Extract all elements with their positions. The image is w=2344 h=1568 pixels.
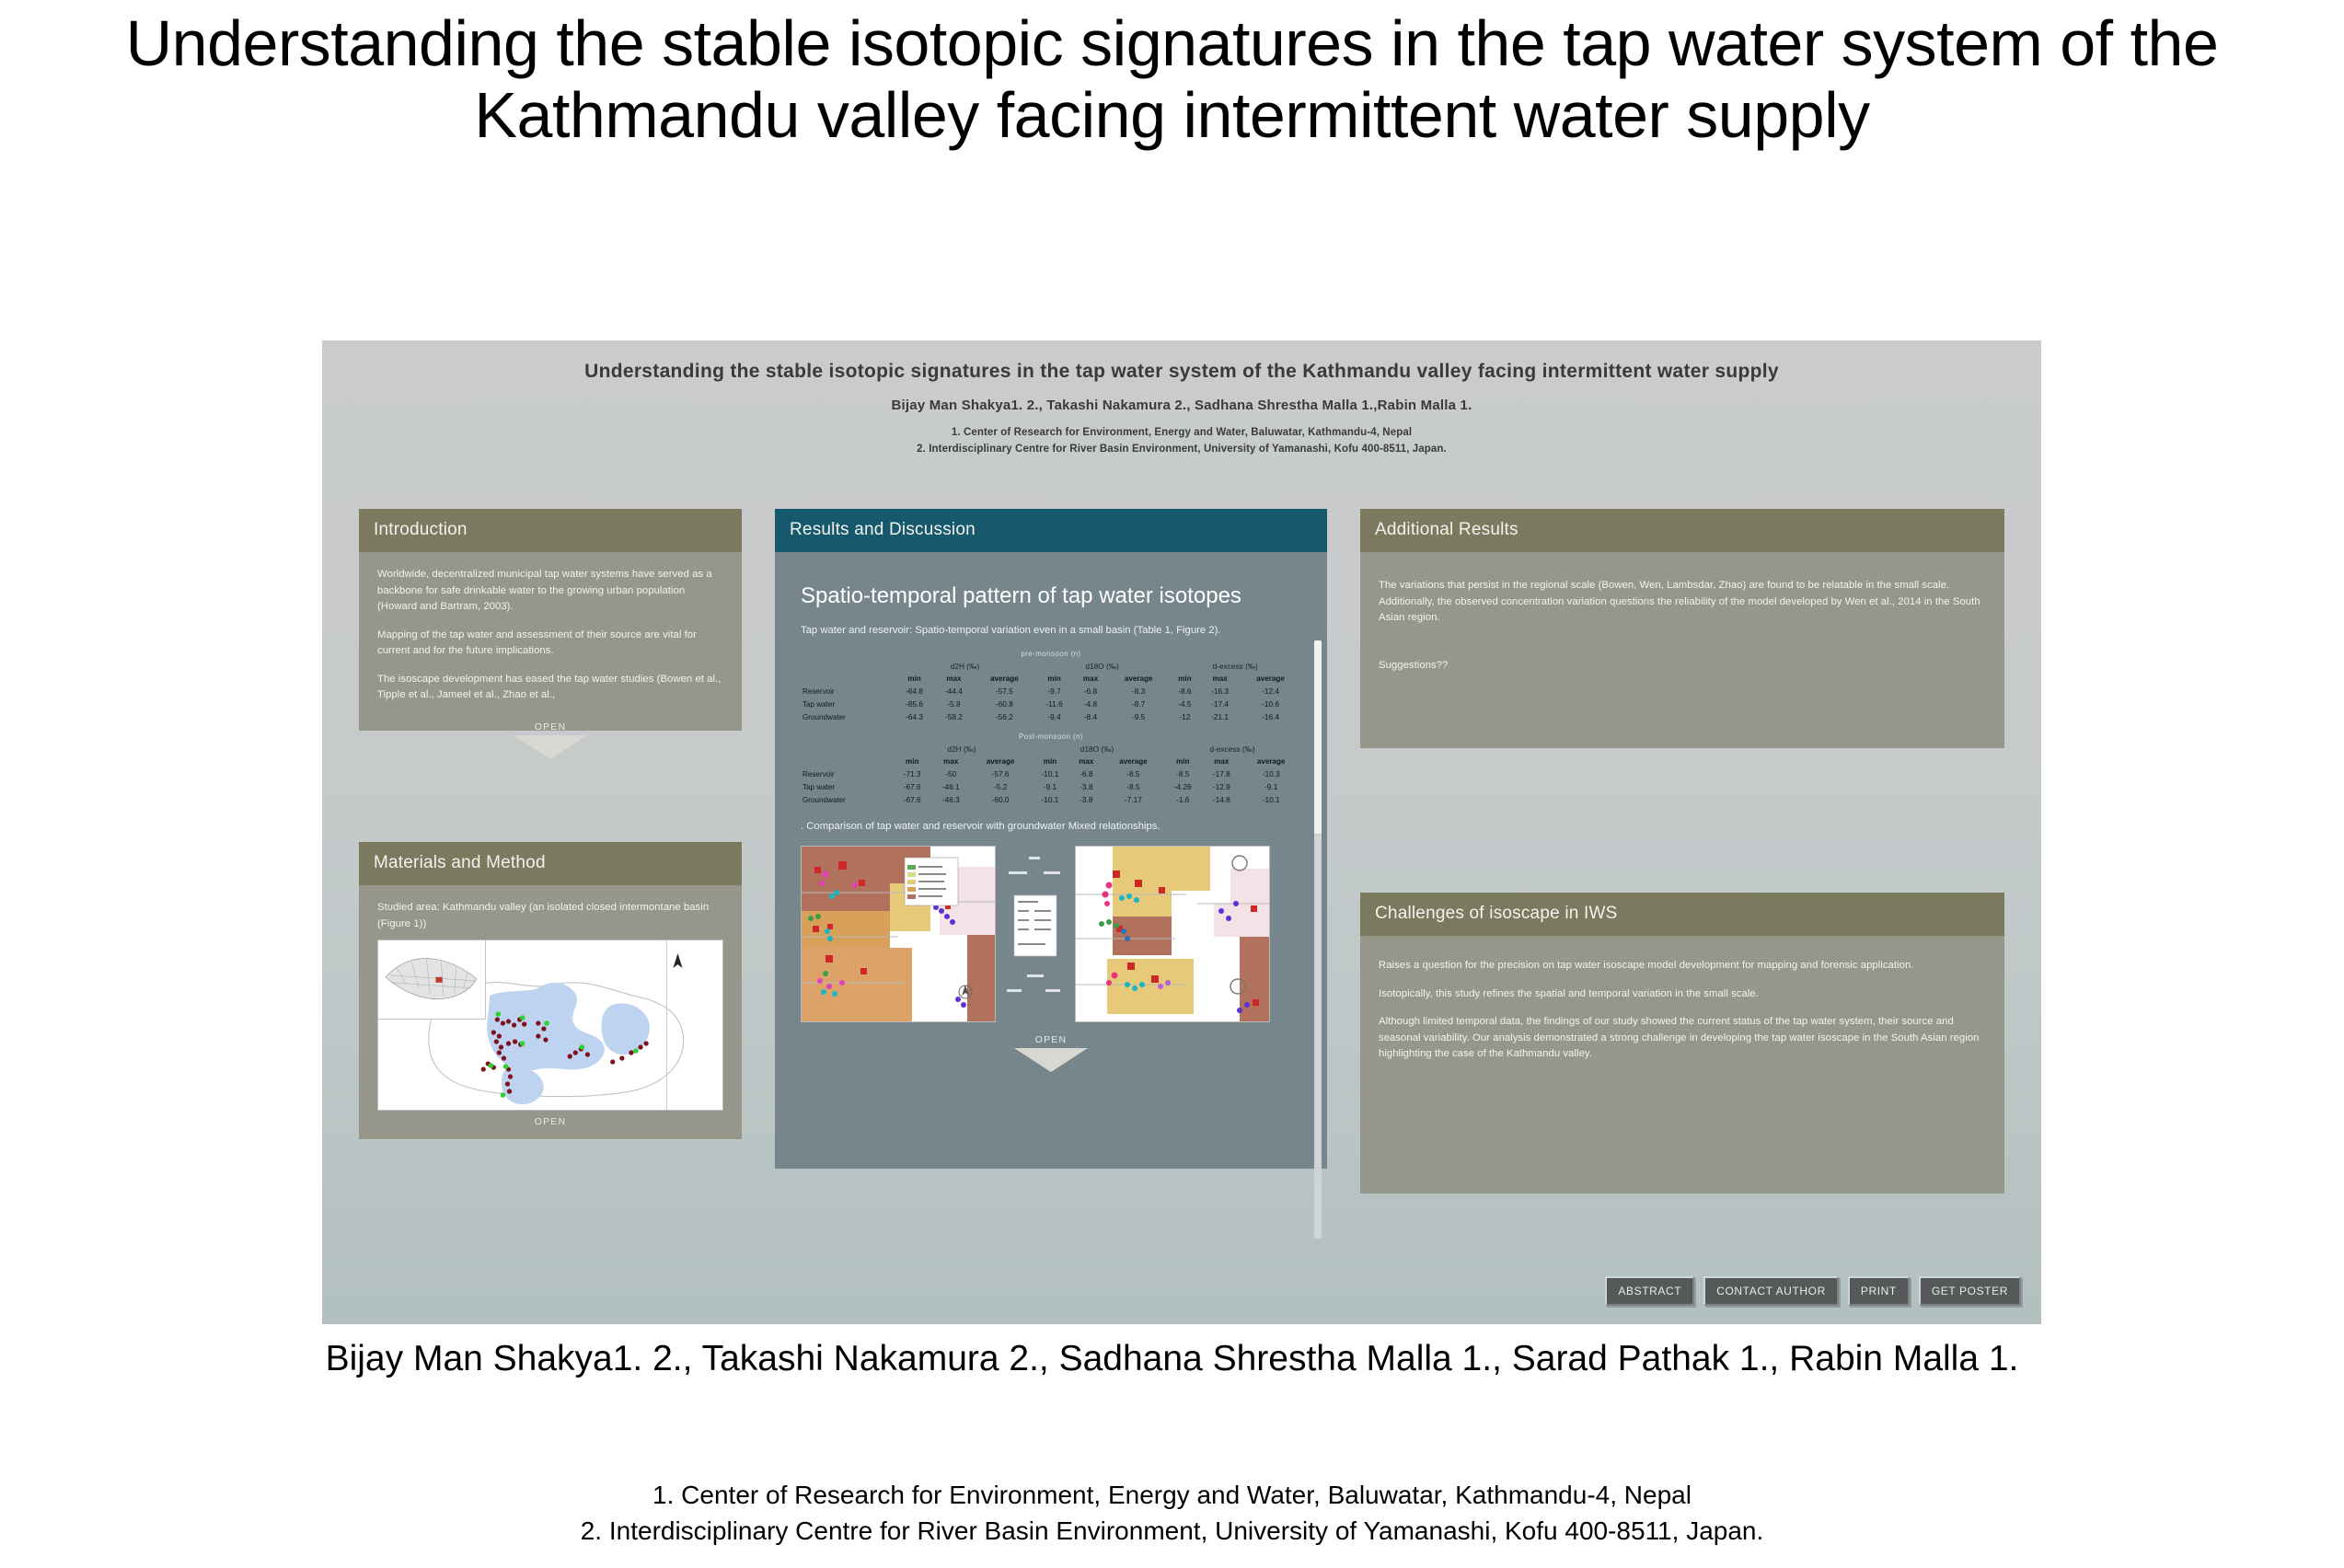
table-cell-7: -12.9 bbox=[1202, 780, 1241, 793]
results-scrollbar[interactable] bbox=[1314, 640, 1322, 1239]
print-button[interactable]: PRINT bbox=[1848, 1276, 1910, 1306]
table-cell-1: -46.1 bbox=[931, 780, 970, 793]
table-cell-5: -8.5 bbox=[1103, 767, 1164, 780]
isoscape-map-left[interactable] bbox=[801, 846, 996, 1022]
table-cell-3: -9.1 bbox=[1031, 780, 1069, 793]
table-cell-1: -46.3 bbox=[931, 793, 970, 806]
get-poster-button[interactable]: GET POSTER bbox=[1919, 1276, 2021, 1306]
row-label: Tap water bbox=[801, 780, 893, 793]
column-header-3: min bbox=[1031, 755, 1069, 767]
table-cell-6: -8.6 bbox=[1170, 685, 1201, 698]
table-cell-6: -4.5 bbox=[1170, 698, 1201, 710]
table-row: Groundwater-67.6-46.3-60.0-10.1-3.8-7.17… bbox=[801, 793, 1301, 806]
table-cell-7: -14.8 bbox=[1202, 793, 1241, 806]
open-label: OPEN bbox=[377, 1116, 723, 1127]
table-premonsoon: d2H (‰) d18O (‰) d-excess (‰) minmaxaver… bbox=[801, 660, 1301, 723]
table-cell-7: -16.3 bbox=[1200, 685, 1240, 698]
group-d18o: d18O (‰) bbox=[1031, 743, 1163, 755]
table-cell-2: -56.2 bbox=[974, 710, 1035, 723]
poster-authors: Bijay Man Shakya1. 2., Takashi Nakamura … bbox=[322, 398, 2041, 413]
poster-header: Understanding the stable isotopic signat… bbox=[322, 359, 2041, 457]
panel-challenges[interactable]: Challenges of isoscape in IWS Raises a q… bbox=[1360, 893, 2004, 1193]
poster-affiliation-1: 1. Center of Research for Environment, E… bbox=[322, 425, 2041, 441]
additional-paragraph-2: Suggestions?? bbox=[1379, 658, 1986, 674]
additional-body: The variations that persist in the regio… bbox=[1360, 552, 2004, 748]
table-group-row-2: d2H (‰) d18O (‰) d-excess (‰) bbox=[801, 743, 1301, 755]
column-header-5: average bbox=[1103, 755, 1164, 767]
nepal-inset-map bbox=[378, 940, 486, 1020]
results-open-button[interactable]: OPEN bbox=[801, 1023, 1301, 1085]
introduction-body: Worldwide, decentralized municipal tap w… bbox=[359, 552, 742, 731]
column-header-0: min bbox=[893, 755, 931, 767]
figure-study-area-map[interactable] bbox=[377, 940, 723, 1111]
table-cell-2: -60.8 bbox=[974, 698, 1035, 710]
introduction-header: Introduction bbox=[359, 509, 742, 552]
table-cell-0: -64.8 bbox=[895, 685, 934, 698]
isoscape-map-right[interactable] bbox=[1075, 846, 1270, 1022]
table-2-caption: Post-monsoon (n) bbox=[801, 732, 1301, 741]
table-cell-5: -8.7 bbox=[1108, 698, 1170, 710]
poster-action-buttons: ABSTRACT CONTACT AUTHOR PRINT GET POSTER bbox=[1605, 1276, 2021, 1306]
isoscape-middle-legend bbox=[1005, 846, 1066, 1023]
table-cell-3: -10.1 bbox=[1031, 767, 1069, 780]
group-d18o: d18O (‰) bbox=[1035, 660, 1170, 673]
table-row: Groundwater-64.3-58.2-56.2-9.4-8.4-9.5-1… bbox=[801, 710, 1301, 723]
open-label: OPEN bbox=[801, 1034, 1301, 1045]
table-cell-5: -8.5 bbox=[1103, 780, 1164, 793]
introduction-paragraph-3: The isoscape development has eased the t… bbox=[377, 672, 723, 704]
poster-thumbnail[interactable]: Understanding the stable isotopic signat… bbox=[322, 340, 2041, 1324]
poster-affiliation-2: 2. Interdisciplinary Centre for River Ba… bbox=[322, 442, 2041, 457]
column-header-4: max bbox=[1073, 673, 1107, 685]
challenges-body: Raises a question for the precision on t… bbox=[1360, 936, 2004, 1193]
table-cell-3: -10.1 bbox=[1031, 793, 1069, 806]
panel-additional-results[interactable]: Additional Results The variations that p… bbox=[1360, 509, 2004, 748]
table-head-2: d2H (‰) d18O (‰) d-excess (‰) bbox=[801, 743, 1301, 755]
affiliation-line-1: 1. Center of Research for Environment, E… bbox=[0, 1477, 2344, 1513]
materials-paragraph-1: Studied area: Kathmandu valley (an isola… bbox=[377, 900, 723, 932]
row-label: Reservoir bbox=[801, 685, 895, 698]
panel-results-discussion[interactable]: Results and Discussion Spatio-temporal p… bbox=[775, 509, 1327, 1169]
column-header-0: min bbox=[895, 673, 934, 685]
table-cell-4: -8.4 bbox=[1073, 710, 1107, 723]
table-cell-4: -6.8 bbox=[1069, 767, 1103, 780]
table-cell-7: -21.1 bbox=[1200, 710, 1240, 723]
table-column-row: minmaxaverageminmaxaverageminmaxaverage bbox=[801, 755, 1301, 767]
nepal-inset-svg bbox=[378, 940, 485, 1019]
table-cell-6: -1.6 bbox=[1163, 793, 1202, 806]
column-header-2: average bbox=[970, 755, 1031, 767]
affiliations-caption: 1. Center of Research for Environment, E… bbox=[0, 1477, 2344, 1549]
column-header-2: average bbox=[974, 673, 1035, 685]
materials-open-button[interactable]: OPEN bbox=[377, 1111, 723, 1139]
table-cell-0: -67.6 bbox=[893, 780, 931, 793]
table-cell-8: -10.3 bbox=[1241, 767, 1301, 780]
column-header-7: max bbox=[1200, 673, 1240, 685]
column-header-5: average bbox=[1108, 673, 1170, 685]
table-cell-6: -8.5 bbox=[1163, 767, 1202, 780]
isoscape-left-svg bbox=[802, 847, 995, 1021]
table-column-row: minmaxaverageminmaxaverageminmaxaverage bbox=[801, 673, 1301, 685]
table-head: d2H (‰) d18O (‰) d-excess (‰) bbox=[801, 660, 1301, 673]
table-cell-0: -85.6 bbox=[895, 698, 934, 710]
additional-header: Additional Results bbox=[1360, 509, 2004, 552]
additional-paragraph-1: The variations that persist in the regio… bbox=[1379, 578, 1986, 627]
isoscape-figure-pair[interactable] bbox=[801, 846, 1301, 1023]
poster-page: Understanding the stable isotopic signat… bbox=[0, 0, 2344, 1568]
table-cell-8: -10.1 bbox=[1241, 793, 1301, 806]
table-cell-1: -58.2 bbox=[934, 710, 974, 723]
table-cell-4: -3.8 bbox=[1069, 793, 1103, 806]
affiliation-line-2: 2. Interdisciplinary Centre for River Ba… bbox=[0, 1513, 2344, 1549]
isoscape-right-svg bbox=[1076, 847, 1269, 1021]
legend-svg bbox=[1005, 853, 1066, 1019]
panel-materials-method[interactable]: Materials and Method Studied area: Kathm… bbox=[359, 842, 742, 1139]
table-cell-1: -50 bbox=[931, 767, 970, 780]
table-body-1: minmaxaverageminmaxaverageminmaxaverageR… bbox=[801, 673, 1301, 723]
column-header-1: max bbox=[934, 673, 974, 685]
column-header-4: max bbox=[1069, 755, 1103, 767]
abstract-button[interactable]: ABSTRACT bbox=[1605, 1276, 1694, 1306]
chevron-down-icon bbox=[514, 735, 587, 759]
row-label: Groundwater bbox=[801, 793, 893, 806]
table-cell-0: -67.6 bbox=[893, 793, 931, 806]
results-scrollbar-thumb[interactable] bbox=[1314, 640, 1322, 834]
column-header-6: min bbox=[1163, 755, 1202, 767]
table-1-caption: pre-monsoon (n) bbox=[801, 650, 1301, 658]
row-label: Groundwater bbox=[801, 710, 895, 723]
row-label: Reservoir bbox=[801, 767, 893, 780]
table-cell-4: -4.8 bbox=[1073, 698, 1107, 710]
poster-title: Understanding the stable isotopic signat… bbox=[322, 359, 2041, 385]
results-body: Spatio-temporal pattern of tap water iso… bbox=[775, 552, 1327, 1169]
table-cell-1: -44.4 bbox=[934, 685, 974, 698]
table-cell-6: -4.26 bbox=[1163, 780, 1202, 793]
table-cell-2: -57.6 bbox=[970, 767, 1031, 780]
column-header-7: max bbox=[1202, 755, 1241, 767]
table-cell-5: -7.17 bbox=[1103, 793, 1164, 806]
table-cell-4: -6.8 bbox=[1073, 685, 1107, 698]
table-cell-3: -9.7 bbox=[1035, 685, 1074, 698]
table-cell-6: -12 bbox=[1170, 710, 1201, 723]
chevron-down-icon bbox=[1014, 1048, 1088, 1072]
table-cell-0: -71.3 bbox=[893, 767, 931, 780]
table-group-row: d2H (‰) d18O (‰) d-excess (‰) bbox=[801, 660, 1301, 673]
table-postmonsoon: d2H (‰) d18O (‰) d-excess (‰) minmaxaver… bbox=[801, 743, 1301, 806]
table-row: Tap water-67.6-46.1-5.2-9.1-3.8-8.5-4.26… bbox=[801, 780, 1301, 793]
table-cell-7: -17.8 bbox=[1202, 767, 1241, 780]
challenges-header: Challenges of isoscape in IWS bbox=[1360, 893, 2004, 936]
table-cell-1: -5.8 bbox=[934, 698, 974, 710]
table-row: Tap water-85.6-5.8-60.8-11.6-4.8-8.7-4.5… bbox=[801, 698, 1301, 710]
introduction-paragraph-1: Worldwide, decentralized municipal tap w… bbox=[377, 567, 723, 616]
table-body-2: minmaxaverageminmaxaverageminmaxaverageR… bbox=[801, 755, 1301, 806]
table-cell-2: -57.5 bbox=[974, 685, 1035, 698]
group-dexcess: d-excess (‰) bbox=[1170, 660, 1301, 673]
poster-affiliations: 1. Center of Research for Environment, E… bbox=[322, 425, 2041, 457]
challenges-paragraph-3: Although limited temporal data, the find… bbox=[1379, 1014, 1986, 1063]
column-header-3: min bbox=[1035, 673, 1074, 685]
column-header-6: min bbox=[1170, 673, 1201, 685]
table-cell-8: -10.6 bbox=[1240, 698, 1301, 710]
panel-introduction[interactable]: Introduction Worldwide, decentralized mu… bbox=[359, 509, 742, 731]
table-cell-5: -9.5 bbox=[1108, 710, 1170, 723]
materials-body: Studied area: Kathmandu valley (an isola… bbox=[359, 885, 742, 1139]
results-note: Tap water and reservoir: Spatio-temporal… bbox=[801, 623, 1301, 639]
table-cell-0: -64.3 bbox=[895, 710, 934, 723]
table-row: Reservoir-64.8-44.4-57.5-9.7-6.8-8.3-8.6… bbox=[801, 685, 1301, 698]
contact-author-button[interactable]: CONTACT AUTHOR bbox=[1703, 1276, 1839, 1306]
column-header-8: average bbox=[1240, 673, 1301, 685]
group-d2h: d2H (‰) bbox=[893, 743, 1031, 755]
results-subtitle: Spatio-temporal pattern of tap water iso… bbox=[801, 582, 1301, 610]
results-header: Results and Discussion bbox=[775, 509, 1327, 552]
table-cell-2: -5.2 bbox=[970, 780, 1031, 793]
challenges-paragraph-1: Raises a question for the precision on t… bbox=[1379, 958, 1986, 974]
table-cell-7: -17.4 bbox=[1200, 698, 1240, 710]
open-label: OPEN bbox=[377, 721, 723, 732]
row-label: Tap water bbox=[801, 698, 895, 710]
column-header-1: max bbox=[931, 755, 970, 767]
table-row: Reservoir-71.3-50-57.6-10.1-6.8-8.5-8.5-… bbox=[801, 767, 1301, 780]
results-figure-note: . Comparison of tap water and reservoir … bbox=[801, 819, 1301, 835]
table-cell-8: -16.4 bbox=[1240, 710, 1301, 723]
column-header-8: average bbox=[1241, 755, 1301, 767]
table-cell-8: -12.4 bbox=[1240, 685, 1301, 698]
group-dexcess: d-excess (‰) bbox=[1163, 743, 1301, 755]
page-title: Understanding the stable isotopic signat… bbox=[0, 7, 2344, 152]
materials-header: Materials and Method bbox=[359, 842, 742, 885]
table-cell-5: -8.3 bbox=[1108, 685, 1170, 698]
challenges-paragraph-2: Isotopically, this study refines the spa… bbox=[1379, 986, 1986, 1003]
group-d2h: d2H (‰) bbox=[895, 660, 1035, 673]
introduction-paragraph-2: Mapping of the tap water and assessment … bbox=[377, 628, 723, 660]
table-cell-8: -9.1 bbox=[1241, 780, 1301, 793]
table-cell-3: -11.6 bbox=[1035, 698, 1074, 710]
table-cell-2: -60.0 bbox=[970, 793, 1031, 806]
introduction-open-button[interactable]: OPEN bbox=[377, 716, 723, 772]
table-cell-3: -9.4 bbox=[1035, 710, 1074, 723]
authors-caption: Bijay Man Shakya1. 2., Takashi Nakamura … bbox=[0, 1336, 2344, 1382]
table-cell-4: -3.8 bbox=[1069, 780, 1103, 793]
